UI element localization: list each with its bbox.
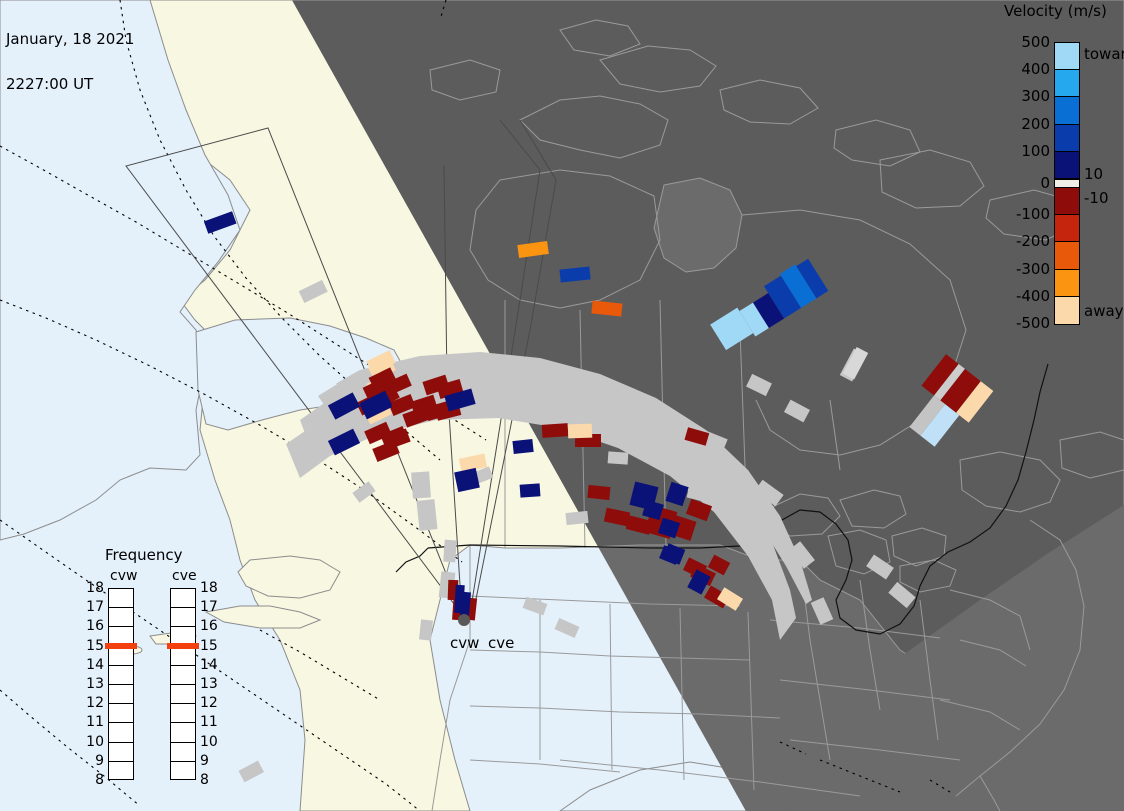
- colorbar-band: [1055, 152, 1079, 179]
- colorbar-tick-label: 0: [1040, 174, 1050, 192]
- frequency-bar-cell: [109, 666, 133, 685]
- frequency-bar-cell: [109, 704, 133, 723]
- colorbar-band: [1055, 97, 1079, 124]
- colorbar-band: [1055, 70, 1079, 97]
- frequency-tick-label-left: 18: [86, 580, 104, 596]
- velocity-cell: [568, 424, 592, 439]
- frequency-tick-label-right: 17: [200, 599, 218, 615]
- frequency-tick-label-right: 18: [200, 580, 218, 596]
- frequency-tick-label-right: 8: [200, 772, 209, 788]
- colorbar-band: [1055, 215, 1079, 242]
- frequency-tick-label-left: 13: [86, 676, 104, 692]
- frequency-tick-label-left: 17: [86, 599, 104, 615]
- frequency-bar-cell: [109, 723, 133, 742]
- colorbar-band: [1055, 270, 1079, 297]
- colorbar-band: [1055, 188, 1079, 215]
- frequency-bar-cell: [171, 666, 195, 685]
- frequency-tick-label-right: 14: [200, 657, 218, 673]
- frequency-bar-cell: [171, 762, 195, 781]
- site-label-cvw: cvw: [450, 634, 479, 652]
- colorbar-tick-label: -200: [1016, 232, 1050, 250]
- frequency-tick-label-right: 15: [200, 638, 218, 654]
- frequency-bar-cell: [171, 743, 195, 762]
- frequency-bar-cell: [171, 589, 195, 608]
- frequency-bar-cell: [171, 723, 195, 742]
- site-label-cve: cve: [488, 634, 514, 652]
- frequency-bar-cell: [171, 647, 195, 666]
- colorbar-label-toward: toward: [1084, 45, 1124, 63]
- colorbar-tick-label: 100: [1021, 142, 1050, 160]
- colorbar-tick-label: -400: [1016, 287, 1050, 305]
- velocity-legend-title: Velocity (m/s): [1004, 2, 1107, 20]
- colorbar-label-minus-ten: -10: [1084, 189, 1109, 207]
- colorbar-tick-label: 200: [1021, 115, 1050, 133]
- velocity-cell: [512, 439, 533, 454]
- colorbar-band: [1055, 43, 1079, 70]
- frequency-bar-cell: [109, 647, 133, 666]
- colorbar-tick-label: -500: [1016, 314, 1050, 332]
- frequency-marker-cve: [167, 643, 199, 649]
- title-date: January, 18 2021: [6, 32, 134, 47]
- frequency-bar-cell: [171, 704, 195, 723]
- frequency-column-label-cvw: cvw: [110, 568, 137, 584]
- frequency-bar-cell: [109, 608, 133, 627]
- superdarn-map-figure: January, 18 2021 2227:00 UT cvw cve Velo…: [0, 0, 1124, 811]
- colorbar-band: [1055, 242, 1079, 269]
- frequency-tick-label-right: 10: [200, 734, 218, 750]
- frequency-tick-label-right: 9: [200, 753, 209, 769]
- frequency-bar-cell: [171, 685, 195, 704]
- frequency-marker-cvw: [105, 643, 137, 649]
- frequency-tick-label-left: 11: [86, 714, 104, 730]
- radar-site-marker: [458, 614, 470, 626]
- colorbar-band: [1055, 179, 1079, 188]
- velocity-cell: [587, 485, 610, 500]
- frequency-bar-cve: [170, 588, 196, 780]
- frequency-column-label-cve: cve: [172, 568, 197, 584]
- frequency-tick-label-right: 11: [200, 714, 218, 730]
- velocity-cell: [520, 483, 541, 497]
- velocity-colorbar-legend: Velocity (m/s) 5004003002001000-100-200-…: [1000, 0, 1124, 340]
- frequency-bar-cell: [109, 762, 133, 781]
- colorbar-label-away: away: [1084, 302, 1124, 320]
- colorbar-label-plus-ten: 10: [1084, 165, 1103, 183]
- timestamp-title: January, 18 2021 2227:00 UT: [6, 2, 134, 122]
- velocity-colorbar: [1054, 42, 1080, 325]
- frequency-bar-cell: [109, 589, 133, 608]
- frequency-tick-label-right: 13: [200, 676, 218, 692]
- frequency-bar-cell: [109, 685, 133, 704]
- colorbar-band: [1055, 125, 1079, 152]
- title-time: 2227:00 UT: [6, 77, 134, 92]
- frequency-tick-label-left: 15: [86, 638, 104, 654]
- frequency-legend-title: Frequency: [105, 546, 183, 564]
- colorbar-tick-label: -300: [1016, 260, 1050, 278]
- colorbar-tick-label: -100: [1016, 205, 1050, 223]
- frequency-tick-label-left: 14: [86, 657, 104, 673]
- frequency-tick-label-left: 16: [86, 618, 104, 634]
- frequency-bar-cvw: [108, 588, 134, 780]
- frequency-tick-label-left: 10: [86, 734, 104, 750]
- frequency-tick-label-left: 9: [86, 753, 104, 769]
- frequency-tick-label-left: 12: [86, 695, 104, 711]
- frequency-tick-label-left: 8: [86, 772, 104, 788]
- colorbar-tick-label: 400: [1021, 60, 1050, 78]
- frequency-bar-cell: [109, 743, 133, 762]
- frequency-tick-label-right: 12: [200, 695, 218, 711]
- frequency-bar-cell: [171, 608, 195, 627]
- colorbar-tick-label: 500: [1021, 33, 1050, 51]
- colorbar-tick-label: 300: [1021, 87, 1050, 105]
- frequency-legend: Frequency cvw cve 18171615141312111098 1…: [86, 546, 228, 786]
- frequency-tick-label-right: 16: [200, 618, 218, 634]
- velocity-cell: [542, 423, 569, 438]
- colorbar-band: [1055, 297, 1079, 324]
